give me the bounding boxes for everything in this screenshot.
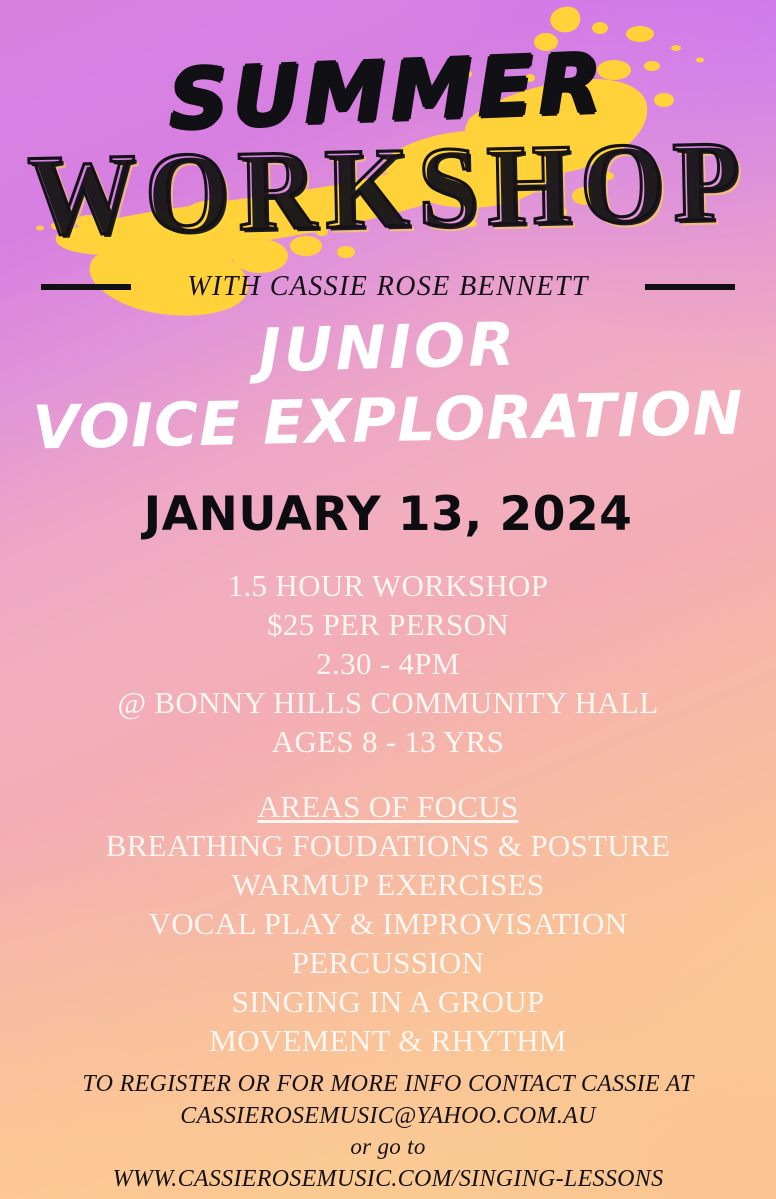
program-title-line-1: JUNIOR [0, 308, 776, 389]
divider-rule-right [645, 284, 735, 290]
event-date: JANUARY 13, 2024 [0, 487, 776, 542]
contact-email[interactable]: CASSIEROSEMUSIC@YAHOO.COM.AU [0, 1100, 776, 1132]
byline-presenter: WITH CASSIE ROSE BENNETT [187, 271, 588, 303]
footer-or-go-to: or go to [0, 1132, 776, 1163]
detail-item: 2.30 - 4PM [0, 644, 776, 683]
focus-item: VOCAL PLAY & IMPROVISATION [0, 904, 776, 943]
focus-item: MOVEMENT & RHYTHM [0, 1021, 776, 1060]
byline-row: WITH CASSIE ROSE BENNETT [0, 268, 776, 306]
program-title: JUNIOR VOICE EXPLORATION [0, 318, 776, 452]
focus-item: PERCUSSION [0, 943, 776, 982]
detail-item: 1.5 HOUR WORKSHOP [0, 566, 776, 605]
focus-item: WARMUP EXERCISES [0, 865, 776, 904]
contact-website[interactable]: WWW.CASSIEROSEMUSIC.COM/SINGING-LESSONS [0, 1163, 776, 1195]
poster-canvas: SUMMER WORKSHOP WITH CASSIE ROSE BENNETT… [0, 0, 776, 1199]
areas-of-focus-section: AREAS OF FOCUS BREATHING FOUDATIONS & PO… [0, 787, 776, 1060]
areas-of-focus-heading: AREAS OF FOCUS [0, 787, 776, 826]
divider-rule-left [41, 284, 131, 290]
program-title-line-2: VOICE EXPLORATION [0, 383, 776, 460]
contact-footer: TO REGISTER OR FOR MORE INFO CONTACT CAS… [0, 1068, 776, 1195]
footer-register-line: TO REGISTER OR FOR MORE INFO CONTACT CAS… [0, 1068, 776, 1100]
detail-item: $25 PER PERSON [0, 605, 776, 644]
poster-content: SUMMER WORKSHOP WITH CASSIE ROSE BENNETT… [0, 0, 776, 1199]
detail-item: AGES 8 - 13 YRS [0, 722, 776, 761]
event-details-list: 1.5 HOUR WORKSHOP $25 PER PERSON 2.30 - … [0, 566, 776, 761]
title-workshop: WORKSHOP [0, 124, 776, 255]
focus-item: BREATHING FOUDATIONS & POSTURE [0, 826, 776, 865]
detail-item: @ BONNY HILLS COMMUNITY HALL [0, 683, 776, 722]
focus-item: SINGING IN A GROUP [0, 982, 776, 1021]
